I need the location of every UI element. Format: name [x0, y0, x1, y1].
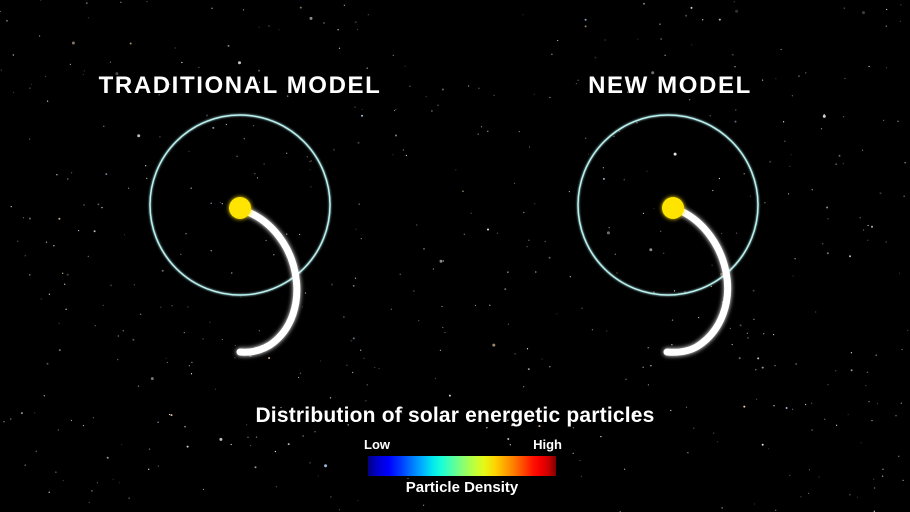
legend-label-low: Low	[364, 437, 390, 452]
sun-new	[662, 197, 684, 219]
particle-density-legend: Low High Particle Density	[368, 437, 556, 496]
model-diagrams	[0, 0, 910, 512]
figure-caption: Distribution of solar energetic particle…	[0, 404, 910, 428]
sun-traditional	[229, 197, 251, 219]
particle-spiral-new	[667, 211, 728, 352]
legend-endpoint-labels: Low High	[368, 437, 556, 454]
particle-spiral-traditional	[240, 212, 297, 352]
legend-label-high: High	[533, 437, 562, 452]
colorbar-gradient	[368, 456, 556, 476]
panel-traditional	[150, 115, 330, 352]
panel-new	[578, 115, 758, 352]
solar-particle-visualization: TRADITIONAL MODEL NEW MODEL	[0, 0, 910, 512]
colorbar-axis-label: Particle Density	[368, 479, 556, 496]
